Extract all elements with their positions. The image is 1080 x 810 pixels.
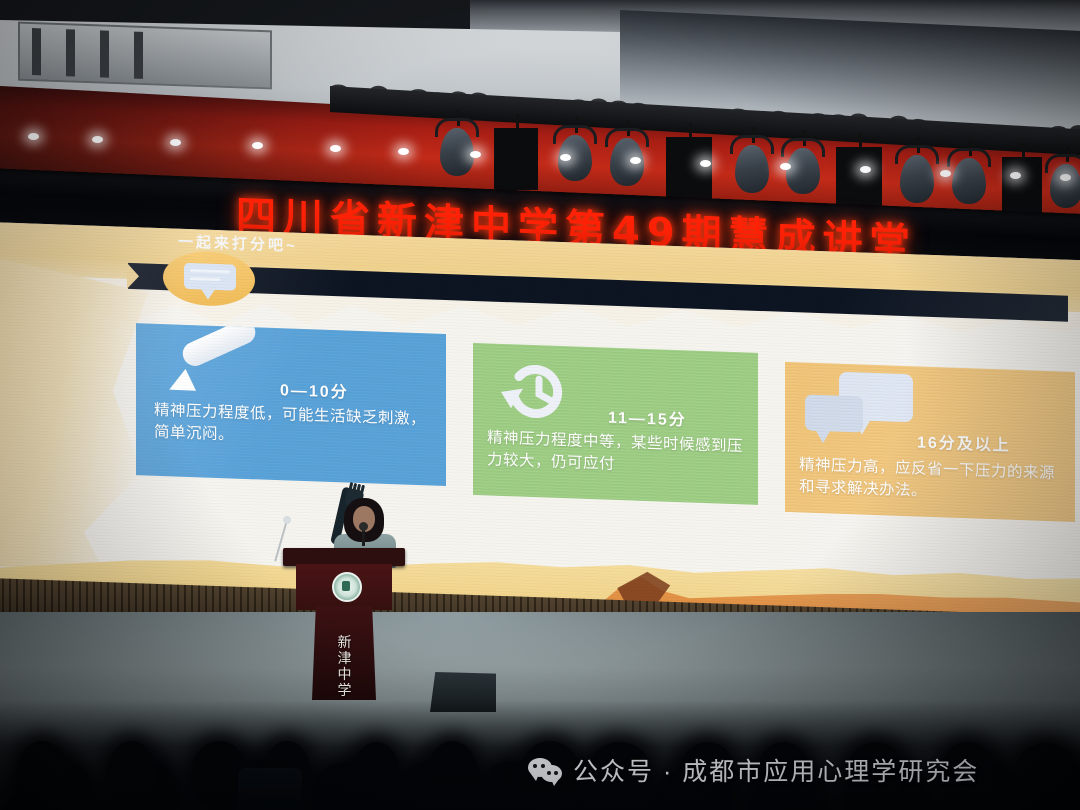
ceiling-spotlight xyxy=(700,160,711,167)
stage-light xyxy=(666,137,712,201)
slide-content: 一起来打分吧~ 0—10分 精神压力程度低，可能生活缺乏刺激，简单沉闷。 xyxy=(0,222,1080,646)
stage-light xyxy=(735,141,769,193)
ceiling-spotlight xyxy=(398,148,409,155)
ceiling-spotlight xyxy=(170,139,181,146)
stage-light xyxy=(1002,157,1042,215)
wechat-icon xyxy=(528,758,562,783)
stage-light xyxy=(786,144,820,194)
air-conditioner-vent xyxy=(18,22,272,90)
stage-light xyxy=(440,124,474,176)
ceiling-spotlight xyxy=(470,151,481,158)
score-description-green: 精神压力程度中等，某些时候感到压力较大，仍可应付 xyxy=(487,427,749,480)
pencil-icon xyxy=(162,338,258,399)
score-card-blue: 0—10分 精神压力程度低，可能生活缺乏刺激，简单沉闷。 xyxy=(136,323,446,486)
stage-light xyxy=(836,147,882,211)
stage-light xyxy=(494,128,538,190)
lecture-hall-photo: 四川省新津中学第49期慧成讲堂 一起来打分吧~ 0—10分 精 xyxy=(0,0,1080,810)
score-label-green: 11—15分 xyxy=(608,404,687,431)
projection-screen: 一起来打分吧~ 0—10分 精神压力程度低，可能生活缺乏刺激，简单沉闷。 xyxy=(0,222,1080,646)
clock-rewind-icon xyxy=(497,358,575,431)
score-description-orange: 精神压力高，应反省一下压力的来源和寻求解决办法。 xyxy=(799,454,1057,507)
clock-rewind-svg xyxy=(497,358,575,431)
ceiling-spotlight xyxy=(940,170,951,177)
slide-title: 一起来打分吧~ xyxy=(178,231,298,256)
score-card-green: 11—15分 精神压力程度中等，某些时候感到压力较大，仍可应付 xyxy=(473,343,758,505)
stage-light xyxy=(1050,160,1080,208)
stage-light xyxy=(952,154,986,204)
score-description-blue: 精神压力程度低，可能生活缺乏刺激，简单沉闷。 xyxy=(154,400,432,454)
school-emblem-icon xyxy=(332,572,362,602)
score-label-blue: 0—10分 xyxy=(280,376,349,402)
score-label-orange: 16分及以上 xyxy=(917,428,1011,455)
speech-bubbles-icon xyxy=(805,371,923,447)
ceiling-spotlight xyxy=(92,136,103,143)
stage-light xyxy=(900,151,934,203)
watermark: 公众号 · 成都市应用心理学研究会 xyxy=(528,752,979,788)
score-card-orange: 16分及以上 精神压力高，应反省一下压力的来源和寻求解决办法。 xyxy=(785,362,1075,522)
speaker-microphone xyxy=(362,528,365,546)
watermark-text: 公众号 · 成都市应用心理学研究会 xyxy=(573,752,979,788)
